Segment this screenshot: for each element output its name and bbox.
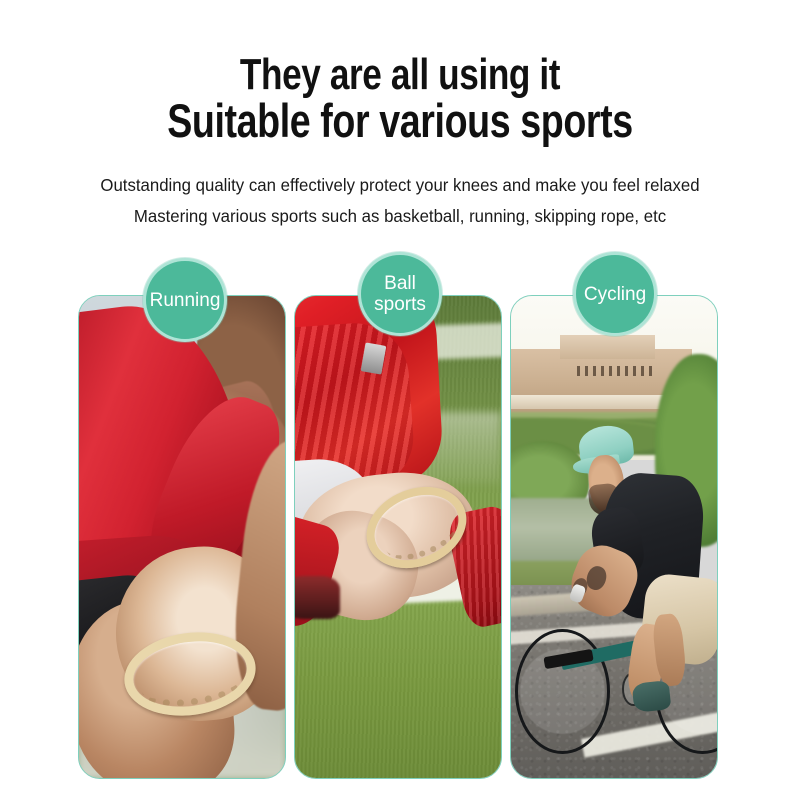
badge-running[interactable]: Running bbox=[143, 258, 227, 342]
page-subtitle: Outstanding quality can effectively prot… bbox=[16, 170, 784, 232]
subtitle-line-1: Outstanding quality can effectively prot… bbox=[16, 170, 784, 201]
player-boot bbox=[295, 576, 340, 619]
panel-ball-sports[interactable] bbox=[294, 295, 502, 779]
badge-ball-sports-label: Ball sports bbox=[371, 273, 429, 315]
running-photo bbox=[79, 296, 285, 778]
badge-ball-sports-label-line2: sports bbox=[371, 294, 429, 315]
cycling-photo bbox=[511, 296, 717, 778]
badge-ball-sports-label-line1: Ball bbox=[371, 273, 429, 294]
page-title: They are all using it Suitable for vario… bbox=[80, 52, 720, 144]
panel-running[interactable] bbox=[78, 295, 286, 779]
bicycle-front-wheel bbox=[515, 629, 610, 754]
badge-running-label: Running bbox=[147, 290, 224, 311]
badge-ball-sports[interactable]: Ball sports bbox=[358, 252, 442, 336]
promo-page: They are all using it Suitable for vario… bbox=[0, 0, 800, 800]
building-roof bbox=[560, 335, 655, 359]
panel-cycling[interactable] bbox=[510, 295, 718, 779]
ball-sports-photo bbox=[295, 296, 501, 778]
badge-cycling-label: Cycling bbox=[581, 284, 649, 305]
badge-cycling[interactable]: Cycling bbox=[573, 252, 657, 336]
subtitle-line-2: Mastering various sports such as basketb… bbox=[16, 201, 784, 232]
headline-line-1: They are all using it bbox=[80, 52, 720, 98]
sports-panel-row bbox=[78, 295, 718, 779]
headline-line-2: Suitable for various sports bbox=[80, 98, 720, 144]
cyclist-shoe bbox=[631, 680, 671, 713]
building-windows bbox=[577, 366, 655, 376]
